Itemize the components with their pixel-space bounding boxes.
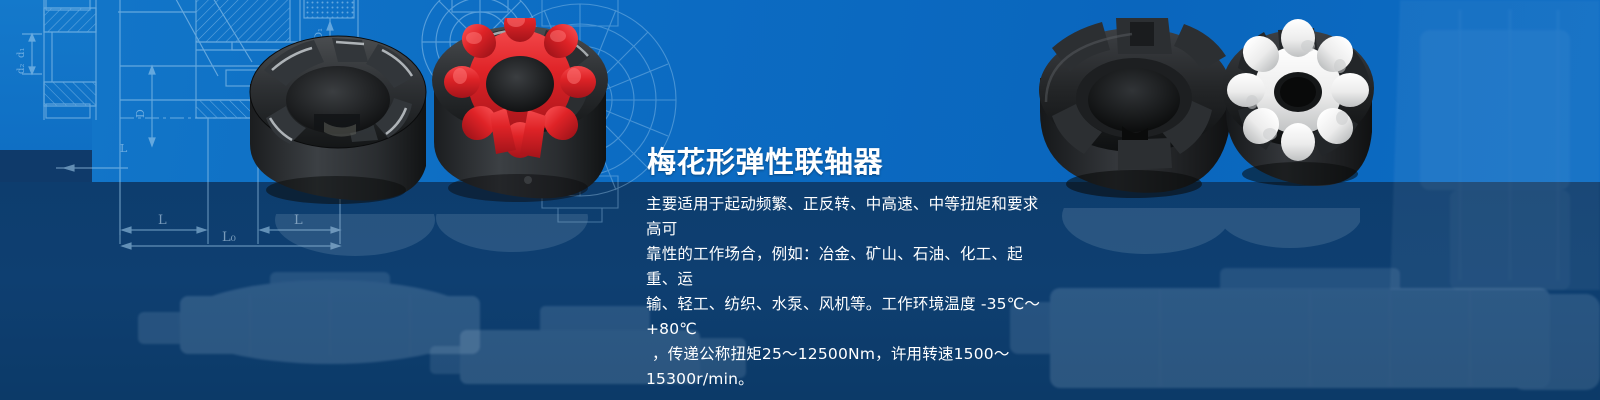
product-description: 主要适用于起动频繁、正反转、中高速、中等扭矩和要求高可 靠性的工作场合，例如：冶… <box>646 192 1050 392</box>
svg-text:L: L <box>120 142 128 155</box>
product-image-left-coupling <box>228 18 618 218</box>
white-spider-insert <box>1227 19 1369 161</box>
description-line-1: 主要适用于起动频繁、正反转、中高速、中等扭矩和要求高可 <box>646 192 1050 242</box>
left-hub-black <box>250 36 426 204</box>
product-banner: d₁ d₂ D₁ <box>0 0 1600 400</box>
description-line-2: 靠性的工作场合，例如：冶金、矿山、石油、化工、起重、运 <box>646 242 1050 292</box>
svg-text:D: D <box>134 109 147 118</box>
ghost-machinery-far-right <box>1390 0 1600 290</box>
product-reflection-left <box>250 214 600 290</box>
page-title: 梅花形弹性联轴器 <box>647 139 883 181</box>
svg-text:L: L <box>158 213 167 228</box>
right-hub-black <box>1039 18 1231 198</box>
description-line-4: ，传递公称扭矩25～12500Nm，许用转速1500～15300r/min。 <box>646 342 1050 392</box>
left-hub-with-red-spider <box>432 18 608 202</box>
product-image-right-coupling <box>1022 6 1374 211</box>
svg-text:d₁: d₁ <box>16 48 27 58</box>
right-hub-with-white-spider <box>1222 19 1374 186</box>
product-reflection-right <box>1040 208 1360 288</box>
svg-text:d₂: d₂ <box>16 64 27 74</box>
description-line-3: 输、轻工、纺织、水泵、风机等。工作环境温度 -35℃～+80℃ <box>646 292 1050 342</box>
